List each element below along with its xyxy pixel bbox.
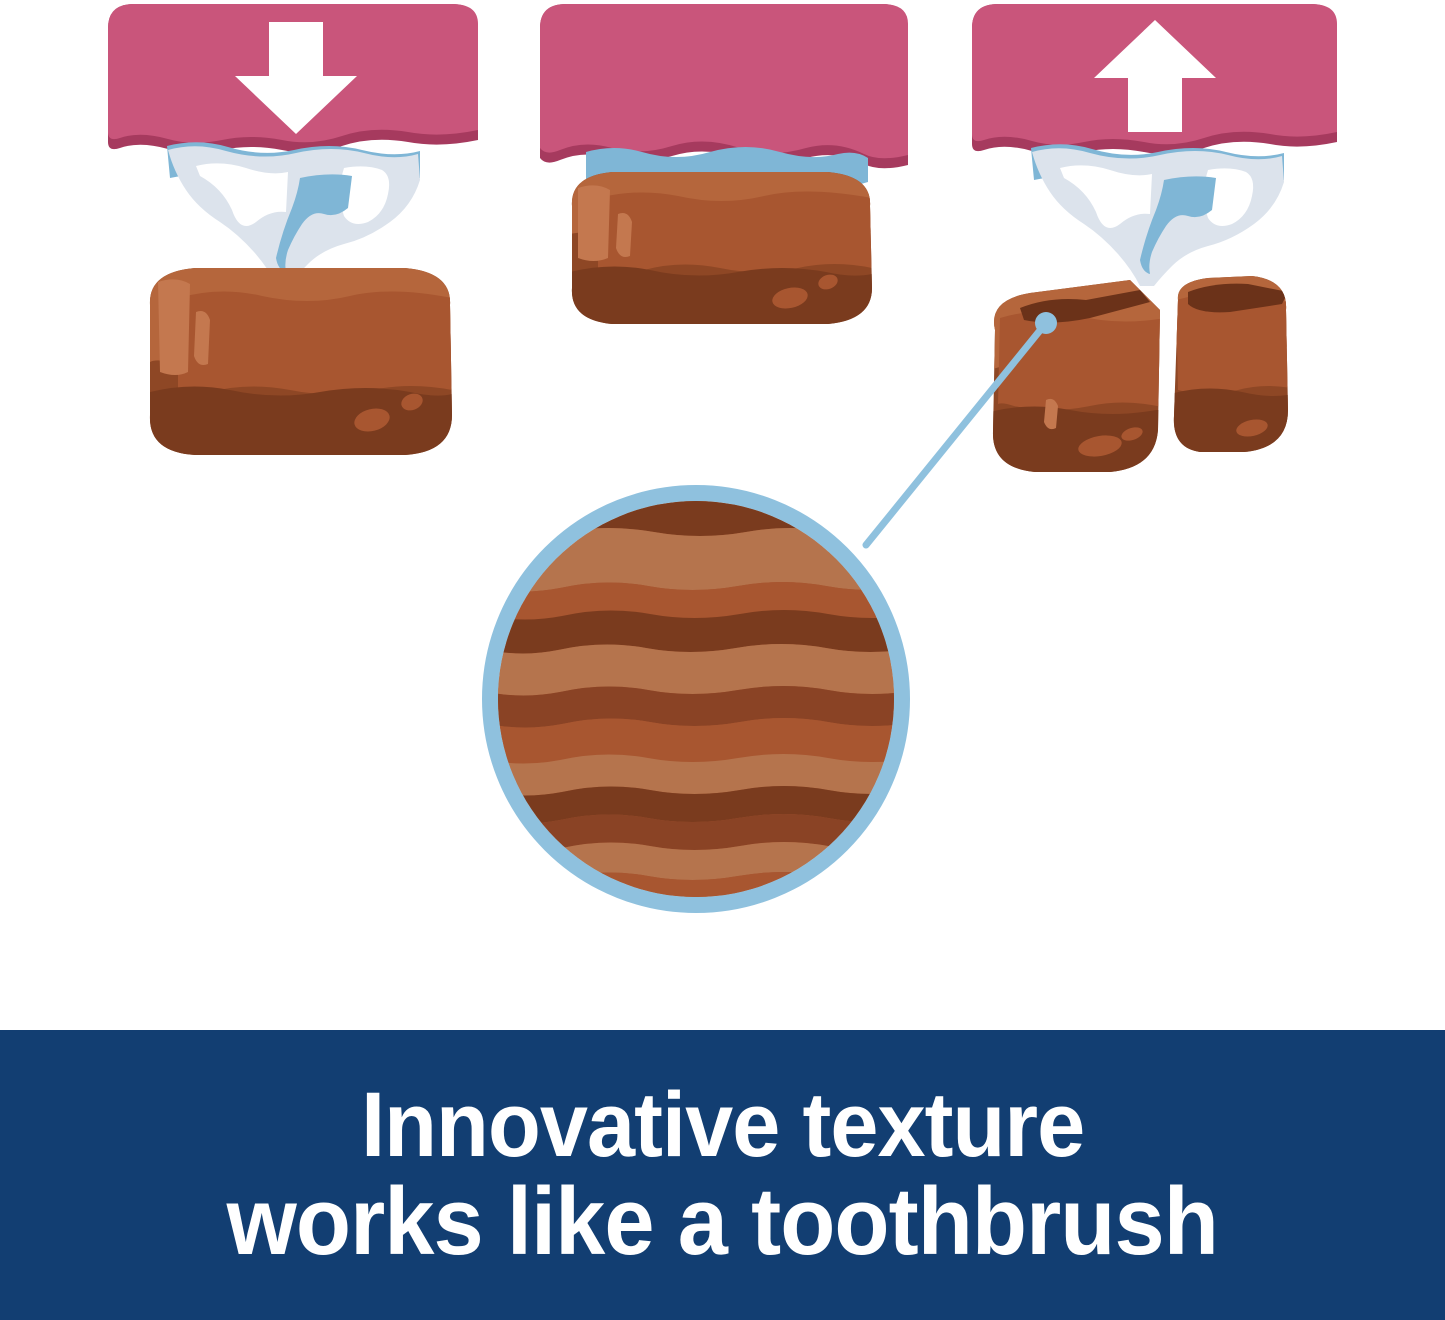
panel-press-down xyxy=(108,4,478,460)
texture-magnifier xyxy=(480,490,916,940)
gum-block-2 xyxy=(540,4,908,158)
kibble-whole-1 xyxy=(150,260,452,460)
caption-band: Innovative texture works like a toothbru… xyxy=(0,1030,1445,1320)
poster-root: Innovative texture works like a toothbru… xyxy=(0,0,1445,1320)
panel-contact xyxy=(540,4,908,330)
illustration-area xyxy=(0,0,1445,1030)
panel-lift-up xyxy=(972,4,1337,480)
kibble-broken-right xyxy=(1170,266,1300,460)
caption-line-2: works like a toothbrush xyxy=(227,1173,1218,1271)
kibble-whole-2 xyxy=(570,160,872,330)
kibble-broken-left xyxy=(985,270,1170,480)
caption-line-1: Innovative texture xyxy=(361,1079,1084,1173)
